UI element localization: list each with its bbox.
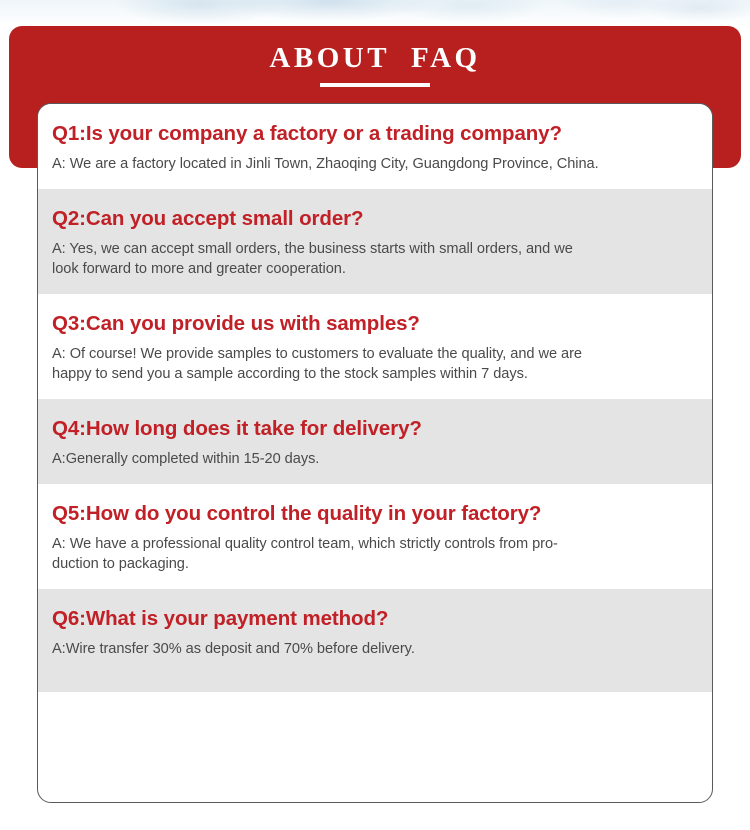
faq-item[interactable]: Q6:What is your payment method? A:Wire t… [38,589,712,692]
faq-item[interactable]: Q2:Can you accept small order? A: Yes, w… [38,189,712,294]
faq-question: Q3:Can you provide us with samples? [52,312,698,336]
faq-answer: A: Of course! We provide samples to cust… [52,345,698,385]
faq-answer: A:Wire transfer 30% as deposit and 70% b… [52,640,698,660]
faq-question: Q6:What is your payment method? [52,607,698,631]
page-title: ABOUT FAQ [9,42,741,75]
faq-answer: A: We are a factory located in Jinli Tow… [52,155,698,175]
faq-question: Q5:How do you control the quality in you… [52,502,698,526]
faq-question: Q4:How long does it take for delivery? [52,417,698,441]
faq-item[interactable]: Q1:Is your company a factory or a tradin… [38,104,712,189]
faq-answer: A: We have a professional quality contro… [52,535,698,575]
background-image-bleed [0,0,750,26]
title-underline-rule [320,83,430,87]
faq-page: ABOUT FAQ Q1:Is your company a factory o… [0,0,750,830]
faq-item[interactable]: Q4:How long does it take for delivery? A… [38,399,712,484]
faq-card: Q1:Is your company a factory or a tradin… [37,103,713,803]
faq-answer: A:Generally completed within 15-20 days. [52,450,698,470]
faq-answer: A: Yes, we can accept small orders, the … [52,240,698,280]
faq-question: Q1:Is your company a factory or a tradin… [52,122,698,146]
faq-item[interactable]: Q5:How do you control the quality in you… [38,484,712,589]
faq-item[interactable]: Q3:Can you provide us with samples? A: O… [38,294,712,399]
faq-question: Q2:Can you accept small order? [52,207,698,231]
